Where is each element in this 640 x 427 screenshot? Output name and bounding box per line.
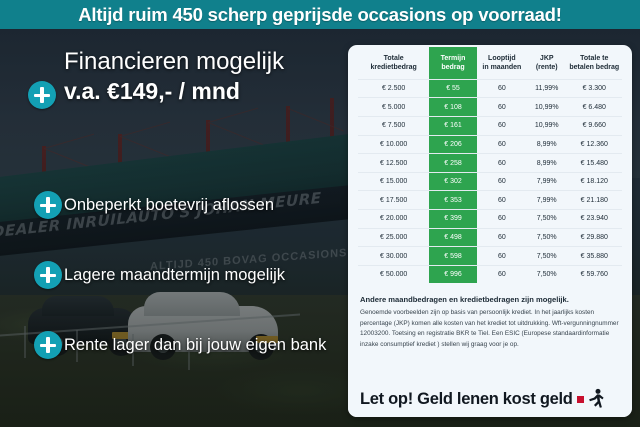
- promo-headline: Financieren mogelijk v.a. €149,- / mnd: [64, 49, 344, 103]
- header-line: betalen bedrag: [569, 64, 619, 71]
- cell-duration: 60: [477, 79, 527, 98]
- running-man-glyph: [585, 388, 605, 410]
- warning-text: Let op! Geld lenen kost geld: [360, 390, 573, 409]
- cell-total-payable: € 29.880: [567, 228, 622, 247]
- top-banner: Altijd ruim 450 scherp geprijsde occasio…: [0, 0, 640, 29]
- note-body: Genoemde voorbeelden zijn op basis van p…: [360, 308, 620, 350]
- cell-duration: 60: [477, 172, 527, 191]
- cell-total-credit: € 10.000: [358, 135, 429, 154]
- cell-monthly-amount: € 996: [429, 265, 477, 283]
- cell-apr: 11,99%: [527, 79, 567, 98]
- cell-monthly-amount: € 353: [429, 191, 477, 210]
- rates-card: Totale kredietbedrag Termijn bedrag Loop…: [348, 45, 632, 417]
- cell-apr: 7,50%: [527, 210, 567, 229]
- table-row: € 30.000€ 598607,50%€ 35.880: [358, 247, 622, 266]
- cell-total-payable: € 12.360: [567, 135, 622, 154]
- cell-duration: 60: [477, 210, 527, 229]
- column-header-total-credit: Totale kredietbedrag: [358, 47, 429, 79]
- cell-duration: 60: [477, 247, 527, 266]
- cell-total-payable: € 6.480: [567, 98, 622, 117]
- cell-apr: 7,50%: [527, 228, 567, 247]
- header-line: JKP: [540, 55, 554, 62]
- header-line: Totale te: [580, 55, 608, 62]
- cell-total-credit: € 30.000: [358, 247, 429, 266]
- cell-duration: 60: [477, 154, 527, 173]
- header-line: (rente): [536, 64, 558, 71]
- table-row: € 10.000€ 206608,99%€ 12.360: [358, 135, 622, 154]
- running-man-icon: [577, 388, 605, 410]
- cell-total-payable: € 18.120: [567, 172, 622, 191]
- column-header-duration: Looptijd in maanden: [477, 47, 527, 79]
- cell-duration: 60: [477, 117, 527, 136]
- table-row: € 15.000€ 302607,99%€ 18.120: [358, 172, 622, 191]
- table-row: € 50.000€ 996607,50%€ 59.760: [358, 265, 622, 283]
- rates-table-wrapper: Totale kredietbedrag Termijn bedrag Loop…: [348, 45, 632, 283]
- promo-column: Financieren mogelijk v.a. €149,- / mnd O…: [0, 29, 348, 427]
- financing-rates-table: Totale kredietbedrag Termijn bedrag Loop…: [358, 47, 622, 283]
- header-line: bedrag: [441, 64, 464, 71]
- cell-apr: 10,99%: [527, 98, 567, 117]
- header-line: Looptijd: [488, 55, 516, 62]
- cell-apr: 8,99%: [527, 135, 567, 154]
- plus-circle-icon: [34, 331, 62, 359]
- column-header-total-payable: Totale te betalen bedrag: [567, 47, 622, 79]
- cell-duration: 60: [477, 228, 527, 247]
- table-row: € 17.500€ 353607,99%€ 21.180: [358, 191, 622, 210]
- cell-total-credit: € 5.000: [358, 98, 429, 117]
- cell-total-credit: € 2.500: [358, 79, 429, 98]
- table-row: € 25.000€ 498607,50%€ 29.880: [358, 228, 622, 247]
- table-row: € 12.500€ 258608,99%€ 15.480: [358, 154, 622, 173]
- cell-monthly-amount: € 258: [429, 154, 477, 173]
- cell-total-payable: € 23.940: [567, 210, 622, 229]
- red-square-marker: [577, 396, 584, 403]
- cell-apr: 7,50%: [527, 247, 567, 266]
- advertisement-banner: DEALER INRUILAUTO'S JOHAN MEURE ALTIJD 4…: [0, 0, 640, 427]
- cell-duration: 60: [477, 135, 527, 154]
- cell-total-credit: € 20.000: [358, 210, 429, 229]
- plus-circle-icon: [34, 261, 62, 289]
- cell-total-payable: € 59.760: [567, 265, 622, 283]
- table-row: € 7.500€ 1616010,99%€ 9.660: [358, 117, 622, 136]
- cell-total-credit: € 12.500: [358, 154, 429, 173]
- warning-bar: Let op! Geld lenen kost geld: [348, 381, 632, 417]
- header-line: Termijn: [441, 55, 466, 62]
- header-line: in maanden: [482, 64, 521, 71]
- header-line: Totale: [384, 55, 404, 62]
- cell-total-payable: € 21.180: [567, 191, 622, 210]
- cell-apr: 7,99%: [527, 172, 567, 191]
- cell-apr: 10,99%: [527, 117, 567, 136]
- cell-total-credit: € 17.500: [358, 191, 429, 210]
- cell-monthly-amount: € 598: [429, 247, 477, 266]
- note-title: Andere maandbedragen en kredietbedragen …: [360, 295, 620, 304]
- cell-duration: 60: [477, 98, 527, 117]
- cell-monthly-amount: € 302: [429, 172, 477, 191]
- cell-monthly-amount: € 161: [429, 117, 477, 136]
- cell-total-payable: € 3.300: [567, 79, 622, 98]
- cell-total-credit: € 25.000: [358, 228, 429, 247]
- table-row: € 5.000€ 1086010,99%€ 6.480: [358, 98, 622, 117]
- column-header-apr: JKP (rente): [527, 47, 567, 79]
- table-header: Totale kredietbedrag Termijn bedrag Loop…: [358, 47, 622, 79]
- cell-apr: 8,99%: [527, 154, 567, 173]
- plus-circle-icon: [34, 191, 62, 219]
- top-banner-text: Altijd ruim 450 scherp geprijsde occasio…: [78, 4, 562, 26]
- promo-bullet-2: Lagere maandtermijn mogelijk: [64, 266, 285, 285]
- cell-total-credit: € 50.000: [358, 265, 429, 283]
- cell-monthly-amount: € 206: [429, 135, 477, 154]
- cell-monthly-amount: € 55: [429, 79, 477, 98]
- promo-bullet-1: Onbeperkt boetevrij aflossen: [64, 196, 274, 215]
- cell-apr: 7,99%: [527, 191, 567, 210]
- cell-total-payable: € 15.480: [567, 154, 622, 173]
- header-line: kredietbedrag: [370, 64, 416, 71]
- cell-total-credit: € 7.500: [358, 117, 429, 136]
- table-header-row: Totale kredietbedrag Termijn bedrag Loop…: [358, 47, 622, 79]
- cell-total-payable: € 9.660: [567, 117, 622, 136]
- cell-monthly-amount: € 399: [429, 210, 477, 229]
- column-header-monthly-amount: Termijn bedrag: [429, 47, 477, 79]
- headline-line-2: v.a. €149,- / mnd: [64, 79, 344, 103]
- plus-circle-icon: [28, 81, 56, 109]
- cell-apr: 7,50%: [527, 265, 567, 283]
- table-row: € 2.500€ 556011,99%€ 3.300: [358, 79, 622, 98]
- cell-total-payable: € 35.880: [567, 247, 622, 266]
- cell-monthly-amount: € 108: [429, 98, 477, 117]
- cell-total-credit: € 15.000: [358, 172, 429, 191]
- cell-duration: 60: [477, 191, 527, 210]
- cell-monthly-amount: € 498: [429, 228, 477, 247]
- table-body: € 2.500€ 556011,99%€ 3.300€ 5.000€ 10860…: [358, 79, 622, 283]
- table-row: € 20.000€ 399607,50%€ 23.940: [358, 210, 622, 229]
- headline-line-1: Financieren mogelijk: [64, 48, 284, 75]
- promo-bullet-3: Rente lager dan bij jouw eigen bank: [64, 336, 326, 355]
- cell-duration: 60: [477, 265, 527, 283]
